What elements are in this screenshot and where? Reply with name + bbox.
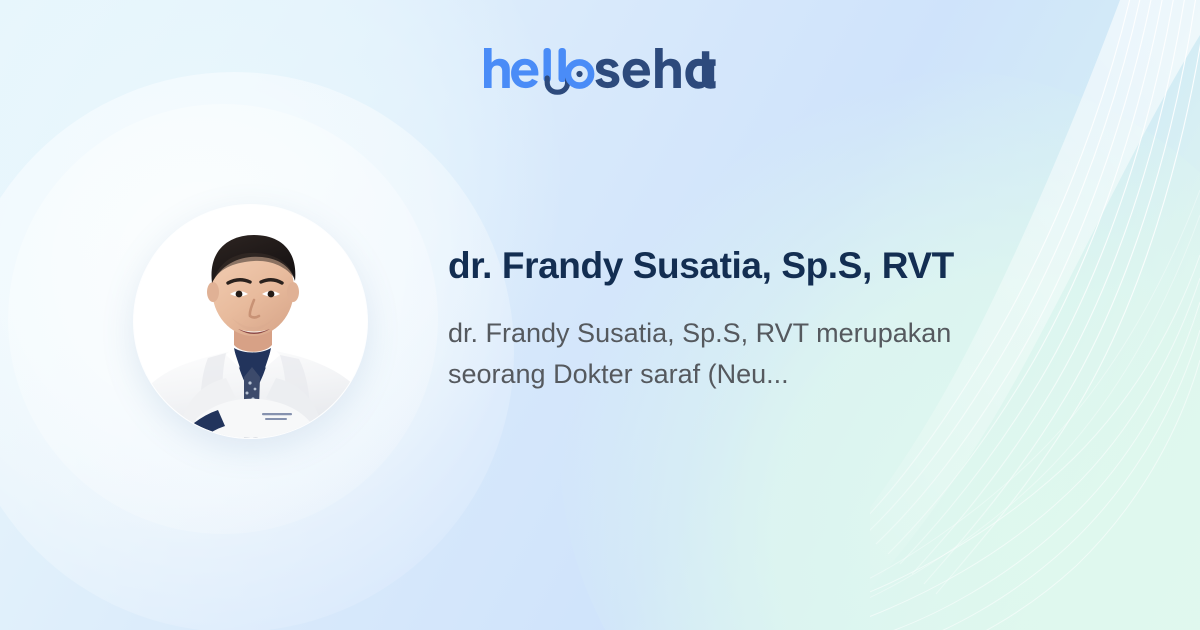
og-share-card: dr. Frandy Susatia, Sp.S, RVT dr. Frandy…	[0, 0, 1200, 630]
doctor-portrait-image	[134, 205, 367, 438]
doctor-avatar	[134, 205, 367, 438]
page-title: dr. Frandy Susatia, Sp.S, RVT	[448, 243, 1060, 289]
brand-logo[interactable]	[0, 42, 1200, 100]
profile-text-block: dr. Frandy Susatia, Sp.S, RVT dr. Frandy…	[448, 243, 1060, 395]
hellosehat-logo-icon[interactable]	[480, 42, 720, 100]
profile-description: dr. Frandy Susatia, Sp.S, RVT merupakan …	[448, 313, 1048, 395]
